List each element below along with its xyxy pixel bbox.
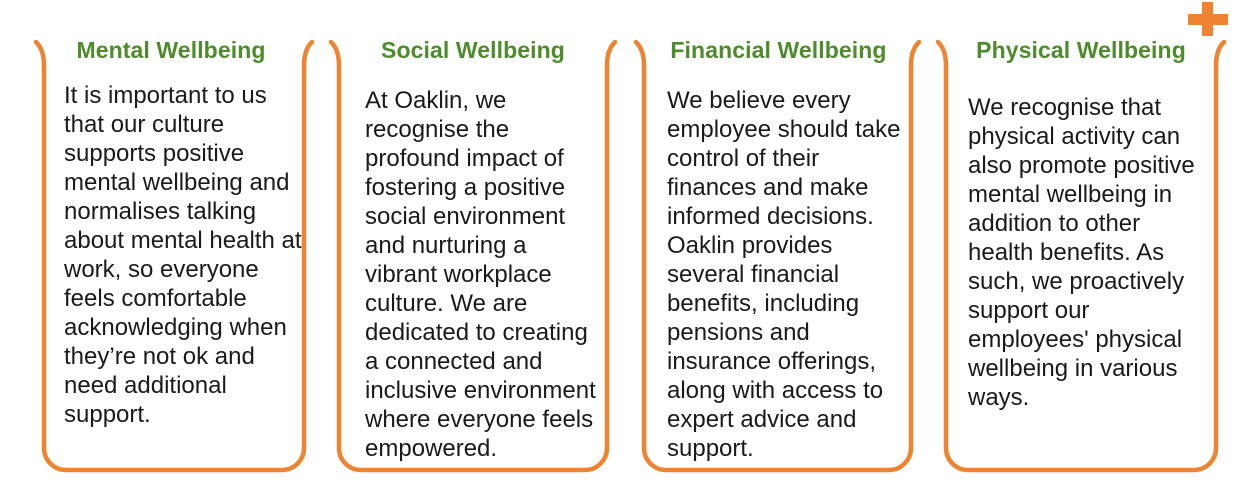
card-mental-wellbeing: Mental Wellbeing It is important to us t… (36, 36, 312, 478)
card-body-text: We believe every employee should take co… (667, 86, 905, 463)
card-social-wellbeing: Social Wellbeing At Oaklin, we recognise… (331, 36, 615, 478)
card-body-text: It is important to us that our culture s… (64, 81, 302, 429)
card-physical-wellbeing: Physical Wellbeing We recognise that phy… (938, 36, 1224, 478)
card-title: Social Wellbeing (331, 36, 615, 64)
card-body-text: At Oaklin, we recognise the profound imp… (365, 86, 605, 463)
card-financial-wellbeing: Financial Wellbeing We believe every emp… (636, 36, 919, 478)
cards-container: Mental Wellbeing It is important to us t… (0, 0, 1248, 493)
wellbeing-cards-board: Mental Wellbeing It is important to us t… (0, 0, 1248, 493)
card-title: Physical Wellbeing (938, 36, 1224, 64)
card-title: Mental Wellbeing (33, 36, 309, 64)
card-title: Financial Wellbeing (637, 36, 920, 64)
card-body-text: We recognise that physical activity can … (968, 93, 1210, 412)
